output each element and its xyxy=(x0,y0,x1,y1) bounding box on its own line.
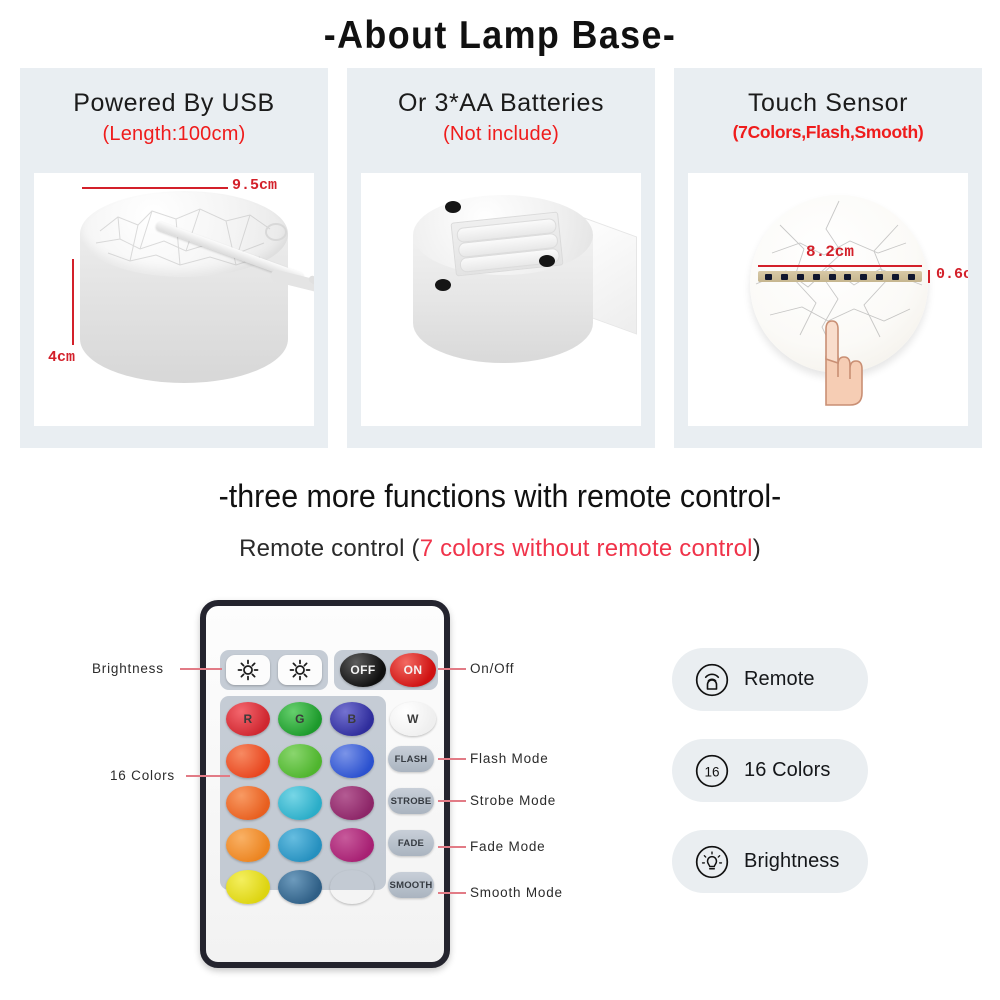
led xyxy=(765,274,772,280)
panel-subtitle: (Not include) xyxy=(347,123,655,145)
dimension-label-strip-width: 8.2cm xyxy=(806,243,854,261)
battery-base-photo xyxy=(361,173,641,426)
feature-pill-label: Remote xyxy=(744,668,815,691)
on-button-label: ON xyxy=(390,653,436,687)
rubber-foot xyxy=(445,201,461,213)
color-swatch[interactable] xyxy=(226,786,270,820)
callout-leader-line xyxy=(438,846,466,848)
smooth-mode-button[interactable]: SMOOTH xyxy=(388,872,434,898)
led xyxy=(908,274,915,280)
color-swatch[interactable] xyxy=(226,870,270,904)
led xyxy=(781,274,788,280)
callout-on-off: On/Off xyxy=(470,661,514,676)
panel-title: Or 3*AA Batteries xyxy=(347,90,655,118)
panel-touch-sensor: Touch Sensor (7Colors,Flash,Smooth) xyxy=(674,68,982,448)
strobe-mode-label: STROBE xyxy=(391,796,432,807)
led xyxy=(829,274,836,280)
rubber-foot xyxy=(539,255,555,267)
infographic-page: -About Lamp Base- Powered By USB (Length… xyxy=(0,0,1000,1000)
color-swatch[interactable] xyxy=(278,870,322,904)
callout-leader-line xyxy=(438,668,466,670)
led xyxy=(860,274,867,280)
remote-face: OFF ON R G B W xyxy=(206,606,444,962)
color-button-label: G xyxy=(278,702,322,736)
feature-panels: Powered By USB (Length:100cm) xyxy=(20,68,982,448)
callout-16-colors: 16 Colors xyxy=(110,768,175,783)
feature-pill-brightness[interactable]: Brightness xyxy=(672,830,868,893)
panel-subtitle: (Length:100cm) xyxy=(20,123,328,145)
brightness-down-button[interactable] xyxy=(278,655,322,685)
section-title: -three more functions with remote contro… xyxy=(25,478,975,515)
callout-brightness: Brightness xyxy=(92,661,164,676)
color-button-green[interactable]: G xyxy=(278,702,322,736)
color-swatch[interactable] xyxy=(330,828,374,862)
svg-text:16: 16 xyxy=(704,764,719,779)
section-subtitle-suffix: ) xyxy=(753,535,761,562)
sensor-knob xyxy=(265,223,287,241)
color-swatch[interactable] xyxy=(278,744,322,778)
usb-base-photo: 9.5cm 4cm xyxy=(34,173,314,426)
color-swatch[interactable] xyxy=(330,786,374,820)
panel-header: Or 3*AA Batteries (Not include) xyxy=(347,68,655,145)
fade-mode-label: FADE xyxy=(398,838,424,849)
on-button[interactable]: ON xyxy=(390,653,436,687)
dimension-line-height xyxy=(72,259,74,345)
section-subtitle-prefix: Remote control ( xyxy=(239,535,420,562)
bulb-icon xyxy=(694,844,730,880)
panel-title: Powered By USB xyxy=(20,90,328,118)
pointing-hand-icon xyxy=(806,315,868,407)
led-strip xyxy=(758,271,922,282)
remote-control[interactable]: OFF ON R G B W xyxy=(200,600,450,968)
panel-header: Touch Sensor (7Colors,Flash,Smooth) xyxy=(674,68,982,142)
sixteen-circle-icon: 16 xyxy=(694,753,730,789)
flash-mode-label: FLASH xyxy=(395,754,428,765)
dimension-label-height: 4cm xyxy=(48,349,75,366)
callout-strobe-mode: Strobe Mode xyxy=(470,793,556,808)
panel-subtitle: (7Colors,Flash,Smooth) xyxy=(674,123,982,142)
callout-fade-mode: Fade Mode xyxy=(470,839,546,854)
feature-pill-label: 16 Colors xyxy=(744,759,831,782)
feature-pill-16-colors[interactable]: 16 16 Colors xyxy=(672,739,868,802)
led xyxy=(892,274,899,280)
led xyxy=(797,274,804,280)
callout-smooth-mode: Smooth Mode xyxy=(470,885,563,900)
dimension-line-strip-width xyxy=(758,265,922,267)
callout-leader-line xyxy=(186,775,230,777)
rubber-foot xyxy=(435,279,451,291)
color-button-label: W xyxy=(390,702,436,736)
led xyxy=(813,274,820,280)
led xyxy=(876,274,883,280)
panel-title: Touch Sensor xyxy=(674,90,982,118)
sun-icon xyxy=(237,659,259,681)
remote-signal-icon xyxy=(694,662,730,698)
callout-leader-line xyxy=(438,758,466,760)
feature-pill-list: Remote 16 16 Colors B xyxy=(672,648,868,921)
color-button-label: B xyxy=(330,702,374,736)
callout-flash-mode: Flash Mode xyxy=(470,751,549,766)
callout-leader-line xyxy=(180,668,222,670)
color-swatch[interactable] xyxy=(278,828,322,862)
color-swatch[interactable] xyxy=(330,744,374,778)
touch-sensor-photo: 8.2cm 0.6cm xyxy=(688,173,968,426)
dimension-label-width: 9.5cm xyxy=(232,177,277,194)
dimension-label-strip-height: 0.6cm xyxy=(936,266,968,283)
strobe-mode-button[interactable]: STROBE xyxy=(388,788,434,814)
dimension-line-strip-height xyxy=(928,270,930,283)
color-swatch[interactable] xyxy=(226,828,270,862)
callout-leader-line xyxy=(438,800,466,802)
dimension-line-width xyxy=(82,187,228,189)
fade-mode-button[interactable]: FADE xyxy=(388,830,434,856)
color-button-blue[interactable]: B xyxy=(330,702,374,736)
color-swatch[interactable] xyxy=(226,744,270,778)
callout-leader-line xyxy=(438,892,466,894)
feature-pill-label: Brightness xyxy=(744,850,840,873)
led xyxy=(844,274,851,280)
lamp-base-top xyxy=(80,191,288,277)
sun-icon xyxy=(289,659,311,681)
color-swatch[interactable] xyxy=(330,870,374,904)
flash-mode-button[interactable]: FLASH xyxy=(388,746,434,772)
color-swatch[interactable] xyxy=(278,786,322,820)
section-subtitle-highlight: 7 colors without remote control xyxy=(420,535,753,562)
off-button-label: OFF xyxy=(340,653,386,687)
smooth-mode-label: SMOOTH xyxy=(390,880,433,891)
page-title: -About Lamp Base- xyxy=(40,14,960,58)
section-subtitle: Remote control (7 colors without remote … xyxy=(0,535,1000,563)
off-button[interactable]: OFF xyxy=(340,653,386,687)
color-button-red[interactable]: R xyxy=(226,702,270,736)
color-button-label: R xyxy=(226,702,270,736)
panel-header: Powered By USB (Length:100cm) xyxy=(20,68,328,145)
brightness-up-button[interactable] xyxy=(226,655,270,685)
feature-pill-remote[interactable]: Remote xyxy=(672,648,868,711)
panel-powered-by-usb: Powered By USB (Length:100cm) xyxy=(20,68,328,448)
color-button-white[interactable]: W xyxy=(390,702,436,736)
panel-aa-batteries: Or 3*AA Batteries (Not include) xyxy=(347,68,655,448)
